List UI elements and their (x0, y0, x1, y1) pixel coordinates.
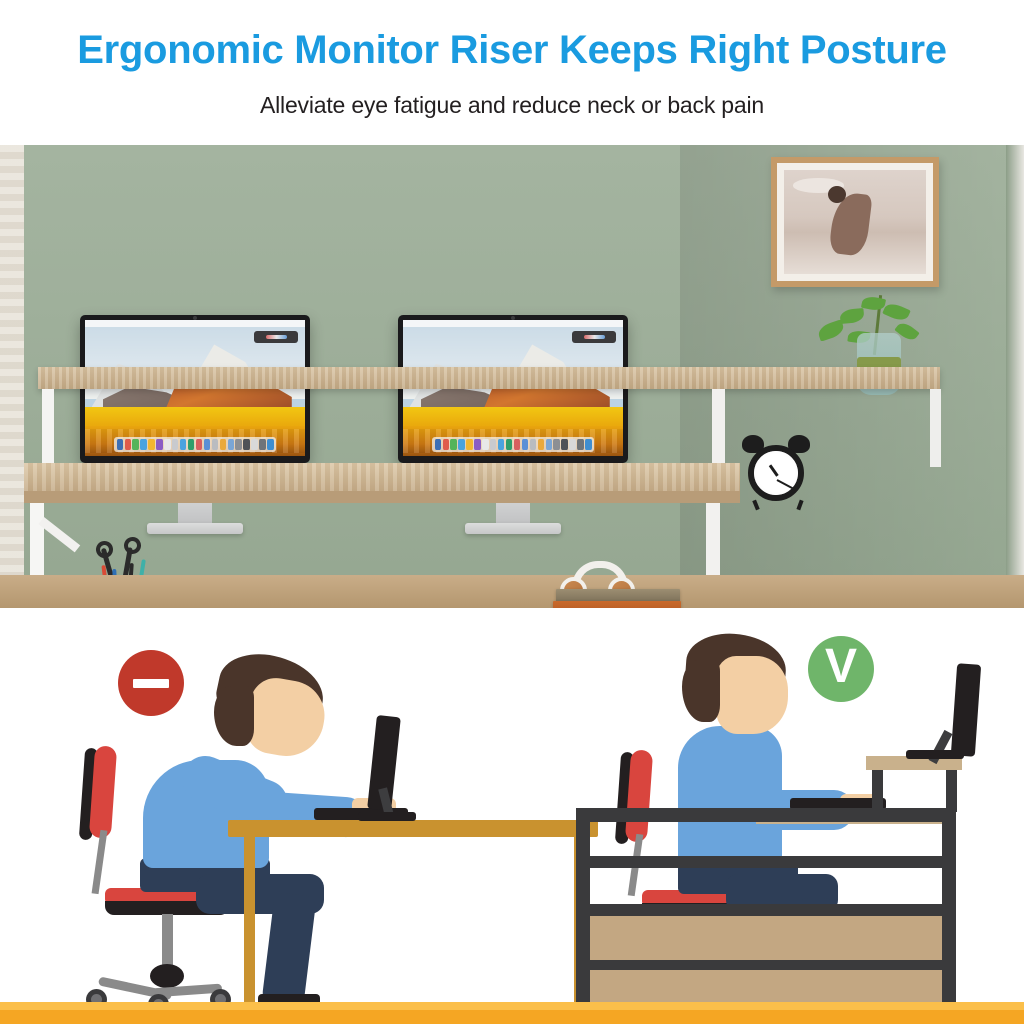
dock-icon-16[interactable] (561, 439, 567, 450)
dock-icon-18[interactable] (577, 439, 583, 450)
monitor-bezel (80, 315, 310, 463)
check-glyph: V (825, 643, 857, 691)
cabinet-top-rail (576, 808, 956, 822)
dock-icon-19[interactable] (585, 439, 591, 450)
dock-icon-1[interactable] (125, 439, 131, 450)
floor (0, 575, 1024, 608)
dock-icon-7[interactable] (490, 439, 496, 450)
cabinet-drawer[interactable] (590, 916, 942, 964)
dock-icon-10[interactable] (514, 439, 520, 450)
cabinet-shelf-rail (576, 856, 956, 868)
book (553, 601, 681, 608)
dock-icon-13[interactable] (220, 439, 226, 450)
dock-icon-17[interactable] (251, 439, 257, 450)
dock-icon-15[interactable] (235, 439, 241, 450)
dock-icon-12[interactable] (212, 439, 218, 450)
check-badge: V (808, 636, 874, 702)
dock-icon-5[interactable] (156, 439, 162, 450)
monitor-foot (465, 523, 561, 534)
desk-surface (228, 820, 598, 837)
clock-minute-hand (777, 479, 796, 491)
chair-back-post (92, 830, 108, 894)
screen-widget-inner (584, 335, 605, 339)
dock-icon-4[interactable] (148, 439, 154, 450)
floor-bar-highlight (0, 1002, 1024, 1010)
riser-leg-middle (712, 389, 725, 467)
product-banner: Ergonomic Monitor Riser Keeps Right Post… (0, 0, 1024, 1024)
desk-edge (24, 491, 740, 503)
monitor-foot (147, 523, 243, 534)
desk-leg (244, 837, 255, 1002)
screen-widget-inner (266, 335, 287, 339)
art-image (784, 170, 926, 274)
dock-icon-9[interactable] (506, 439, 512, 450)
monitor-base (906, 750, 964, 759)
macos-dock[interactable] (432, 437, 595, 452)
alarm-clock (748, 445, 804, 501)
clock-hour-hand (769, 465, 779, 477)
dock-icon-2[interactable] (132, 439, 138, 450)
macos-dock[interactable] (114, 437, 277, 452)
screen-widget[interactable] (254, 331, 298, 343)
dock-icon-11[interactable] (204, 439, 210, 450)
dock-icon-13[interactable] (538, 439, 544, 450)
clock-face (754, 451, 798, 495)
cabinet-drawer-rail (576, 960, 956, 970)
dock-icon-9[interactable] (188, 439, 194, 450)
dock-icon-16[interactable] (243, 439, 249, 450)
riser-leg-left (42, 389, 54, 467)
screen-widget[interactable] (572, 331, 616, 343)
monitor-bezel (398, 315, 628, 463)
dock-icon-0[interactable] (117, 439, 123, 450)
dock-icon-0[interactable] (435, 439, 441, 450)
cabinet-divider (576, 904, 956, 916)
wall-corner (1006, 145, 1024, 608)
riser-leg-left (872, 768, 883, 812)
monitor-riser-top (38, 367, 940, 389)
dock-icon-15[interactable] (553, 439, 559, 450)
header: Ergonomic Monitor Riser Keeps Right Post… (0, 0, 1024, 145)
dock-icon-14[interactable] (228, 439, 234, 450)
desk-top-grain (24, 463, 740, 491)
page-title: Ergonomic Monitor Riser Keeps Right Post… (0, 28, 1024, 73)
dock-icon-1[interactable] (443, 439, 449, 450)
person-hair-back (682, 660, 720, 722)
no-entry-badge (118, 650, 184, 716)
dock-icon-3[interactable] (458, 439, 464, 450)
dock-icon-8[interactable] (180, 439, 186, 450)
dock-icon-3[interactable] (140, 439, 146, 450)
dock-icon-5[interactable] (474, 439, 480, 450)
posture-comparison: V (0, 608, 1024, 1024)
dock-icon-8[interactable] (498, 439, 504, 450)
dock-icon-17[interactable] (569, 439, 575, 450)
dock-icon-11[interactable] (522, 439, 528, 450)
dock-icon-14[interactable] (546, 439, 552, 450)
dock-icon-10[interactable] (196, 439, 202, 450)
wall-art-frame (771, 157, 939, 287)
chair-hub (150, 964, 184, 988)
person-face (716, 656, 788, 734)
riser-leg-right (946, 768, 957, 812)
macos-menubar[interactable] (403, 320, 623, 327)
riser-leg-right (930, 389, 941, 467)
page-subtitle: Alleviate eye fatigue and reduce neck or… (0, 92, 1024, 119)
dock-icon-12[interactable] (530, 439, 536, 450)
dock-icon-18[interactable] (259, 439, 265, 450)
product-photo: THRIFT EPSON (0, 145, 1024, 608)
dock-icon-7[interactable] (172, 439, 178, 450)
dock-icon-4[interactable] (466, 439, 472, 450)
monitor-illustration (951, 663, 981, 756)
dock-icon-6[interactable] (164, 439, 170, 450)
cabinet-drawer[interactable] (590, 970, 942, 1006)
dock-icon-2[interactable] (450, 439, 456, 450)
curtain (0, 145, 24, 608)
macos-menubar[interactable] (85, 320, 305, 327)
no-entry-bar (133, 679, 169, 688)
dock-icon-19[interactable] (267, 439, 273, 450)
person-hair-back (214, 686, 254, 746)
art-mat (777, 163, 933, 281)
monitor-base (358, 812, 416, 821)
dock-icon-6[interactable] (482, 439, 488, 450)
